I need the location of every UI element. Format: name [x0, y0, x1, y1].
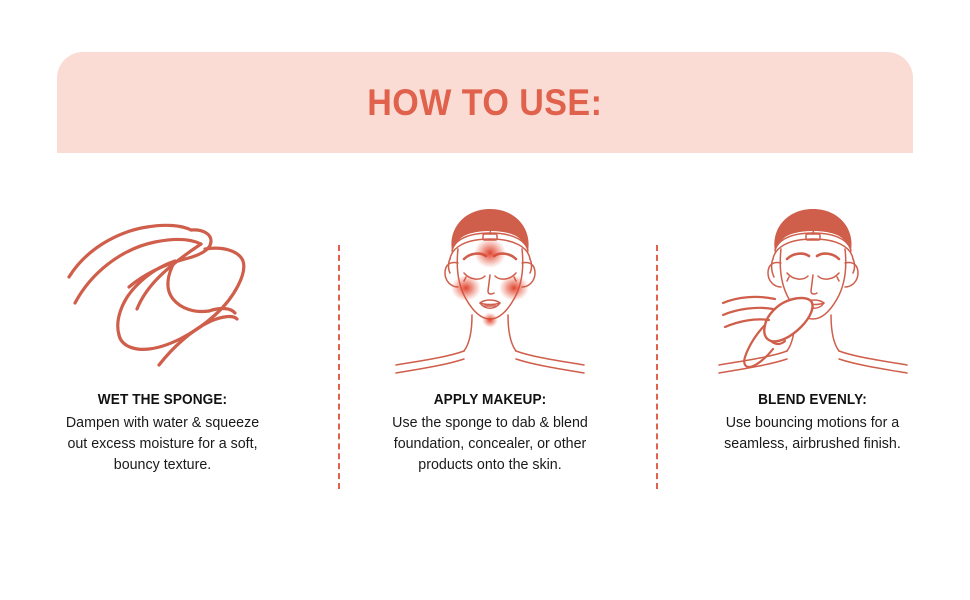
step-illustration-3	[655, 190, 970, 390]
step-item-apply-makeup: APPLY MAKEUP: Use the sponge to dab & bl…	[325, 190, 655, 476]
step-caption-3: BLEND EVENLY: Use bouncing motions for a…	[655, 390, 970, 454]
step-body-line: Use bouncing motions for a	[676, 412, 949, 433]
step-body-line: Dampen with water & squeeze	[21, 412, 303, 433]
step-illustration-1	[0, 190, 325, 390]
step-body-line: out excess moisture for a soft,	[21, 433, 303, 454]
step-title-2: APPLY MAKEUP:	[348, 390, 632, 412]
step-body-line: bouncy texture.	[21, 454, 303, 475]
step-body-3: Use bouncing motions for a seamless, air…	[676, 412, 949, 455]
makeup-dab-chin	[482, 312, 498, 327]
step-caption-1: WET THE SPONGE: Dampen with water & sque…	[0, 390, 325, 476]
step-title-3: BLEND EVENLY:	[678, 390, 948, 412]
step-title-1: WET THE SPONGE:	[23, 390, 302, 412]
hand-squeezing-sponge-icon	[63, 205, 263, 375]
makeup-dab-right-cheek	[499, 275, 529, 301]
page-title: HOW TO USE:	[367, 84, 602, 121]
step-body-1: Dampen with water & squeeze out excess m…	[21, 412, 303, 476]
steps-row: WET THE SPONGE: Dampen with water & sque…	[0, 190, 970, 500]
step-caption-2: APPLY MAKEUP: Use the sponge to dab & bl…	[325, 390, 655, 476]
step-illustration-2	[325, 190, 655, 390]
step-body-line: Use the sponge to dab & blend	[347, 412, 634, 433]
step-body-line: seamless, airbrushed finish.	[676, 433, 949, 454]
infographic-page: HOW TO USE:	[0, 0, 970, 600]
makeup-dab-forehead	[474, 238, 506, 268]
face-with-sponge-blending-icon	[713, 193, 913, 388]
step-item-wet-the-sponge: WET THE SPONGE: Dampen with water & sque…	[0, 190, 325, 476]
header-banner: HOW TO USE:	[57, 52, 913, 153]
makeup-dab-left-cheek	[451, 275, 481, 301]
step-body-2: Use the sponge to dab & blend foundation…	[347, 412, 634, 476]
step-body-line: products onto the skin.	[347, 454, 634, 475]
face-with-makeup-dots-icon	[390, 193, 590, 388]
step-body-line: foundation, concealer, or other	[347, 433, 634, 454]
step-item-blend-evenly: BLEND EVENLY: Use bouncing motions for a…	[655, 190, 970, 454]
